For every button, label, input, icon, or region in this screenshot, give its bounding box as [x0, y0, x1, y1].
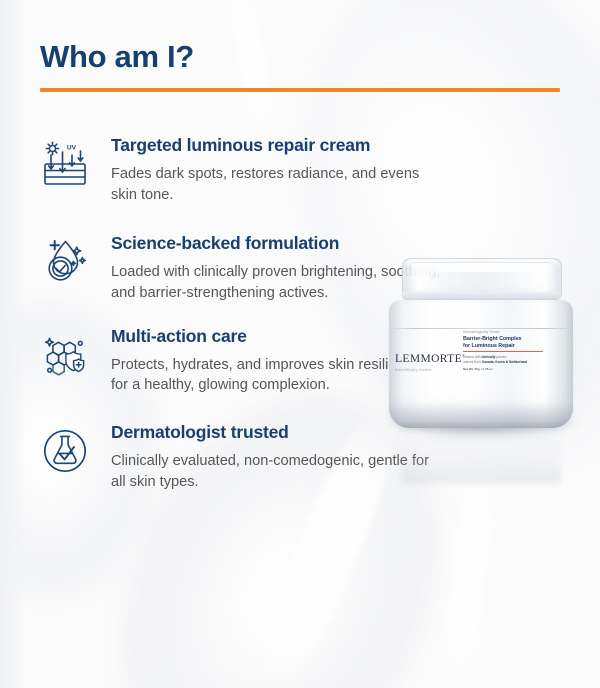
- product-jar-image: LEMMORTE® Scientifically Crafted Dermato…: [371, 258, 597, 473]
- feature-title: Targeted luminous repair cream: [111, 135, 441, 157]
- feature-description: Fades dark spots, restores radiance, and…: [111, 164, 441, 205]
- page-title: Who am I?: [40, 40, 560, 74]
- label-claim-suffix-1: proven: [495, 355, 506, 359]
- label-product-line-1: Barrier-Bright Complex: [463, 336, 522, 342]
- title-underline-rule: [40, 88, 560, 92]
- brand-tagline: Scientifically Crafted: [395, 368, 469, 372]
- svg-text:UV: UV: [67, 145, 77, 152]
- label-accent-rule: [463, 351, 543, 352]
- label-claim-bold-2: Canada, Korea & Switzerland: [482, 360, 528, 364]
- label-claim-bold-1: clinically: [482, 355, 496, 359]
- brand-name-text: LEMMORTE: [395, 353, 462, 365]
- product-label-panel: Dermatologically Tested Barrier-Bright C…: [463, 330, 549, 371]
- label-claim-prefix-1: Infused with: [463, 355, 482, 359]
- flask-check-circle-icon: [36, 422, 94, 480]
- label-claim-prefix-2: actives from: [463, 360, 482, 364]
- feature-title: Science-backed formulation: [111, 233, 441, 255]
- droplet-check-sparkle-icon: [36, 233, 94, 291]
- label-dermatologically-tested: Dermatologically Tested: [463, 330, 549, 334]
- feature-item-targeted-repair: UV Targeted luminous repair cream Fades …: [36, 133, 466, 205]
- infographic-page: Who am I? UV Targeted luminou: [0, 0, 600, 688]
- jar-reflection: [401, 421, 561, 483]
- label-net-weight: Net Wt. 50g / 1.76 oz: [463, 367, 549, 371]
- uv-skin-layers-icon: UV: [36, 135, 94, 193]
- header: Who am I?: [40, 40, 560, 92]
- molecule-shield-icon: [36, 326, 94, 384]
- label-product-line-2: for Luminous Repair: [463, 343, 515, 349]
- product-brand-mark: LEMMORTE® Scientifically Crafted: [395, 354, 469, 372]
